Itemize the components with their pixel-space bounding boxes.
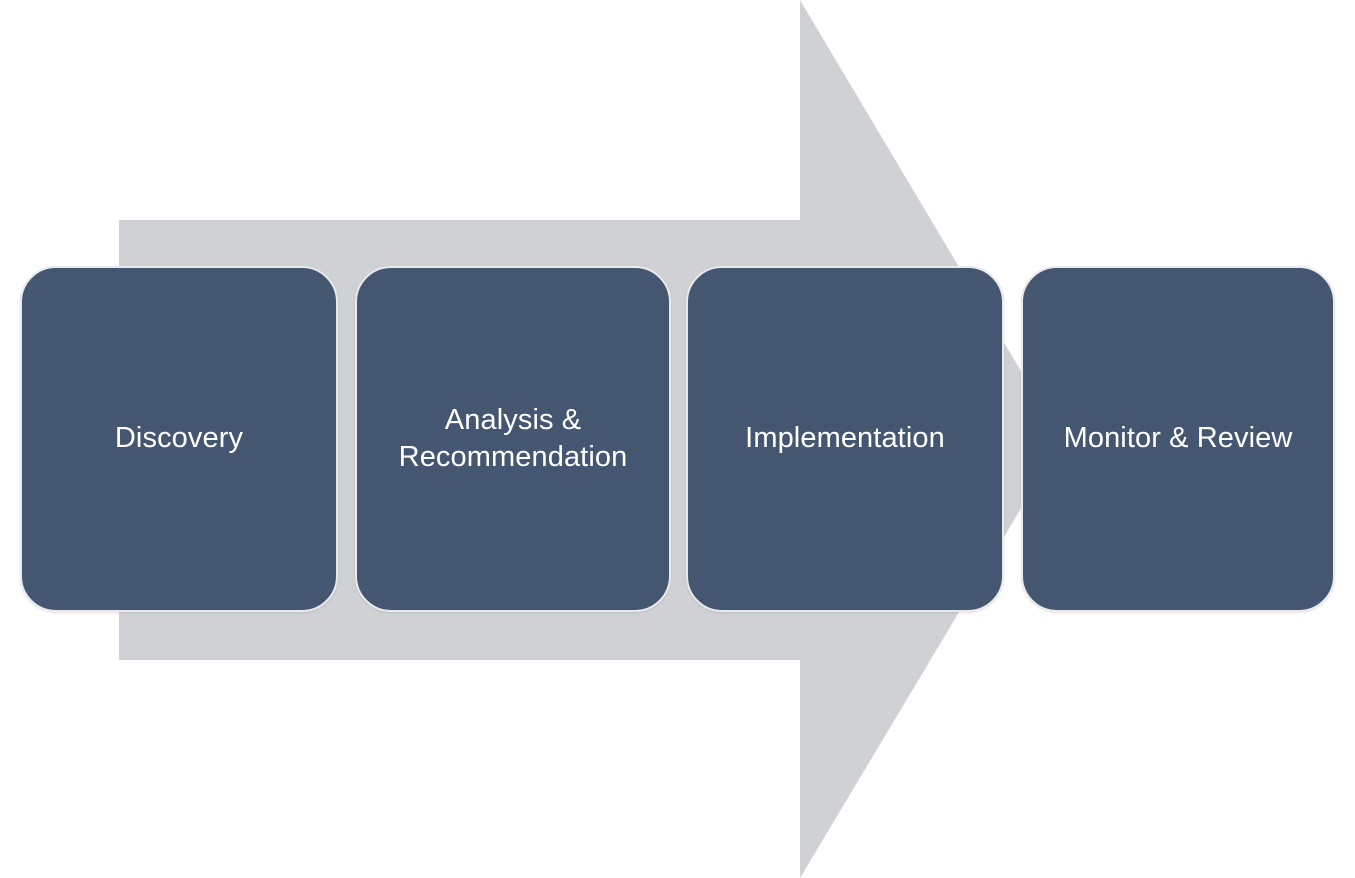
stage-box-label: Analysis & Recommendation xyxy=(387,402,640,476)
stage-boxes-group: Discovery Analysis & Recommendation Impl… xyxy=(0,0,1355,878)
diagram-canvas: Discovery Analysis & Recommendation Impl… xyxy=(0,0,1355,878)
stage-box-label: Monitor & Review xyxy=(1052,420,1305,457)
stage-box-monitor-review[interactable]: Monitor & Review xyxy=(1021,266,1335,612)
stage-box-discovery[interactable]: Discovery xyxy=(20,266,338,612)
stage-box-analysis-recommendation[interactable]: Analysis & Recommendation xyxy=(355,266,671,612)
stage-box-label: Discovery xyxy=(103,420,255,457)
stage-box-implementation[interactable]: Implementation xyxy=(686,266,1004,612)
stage-box-label: Implementation xyxy=(733,420,957,457)
